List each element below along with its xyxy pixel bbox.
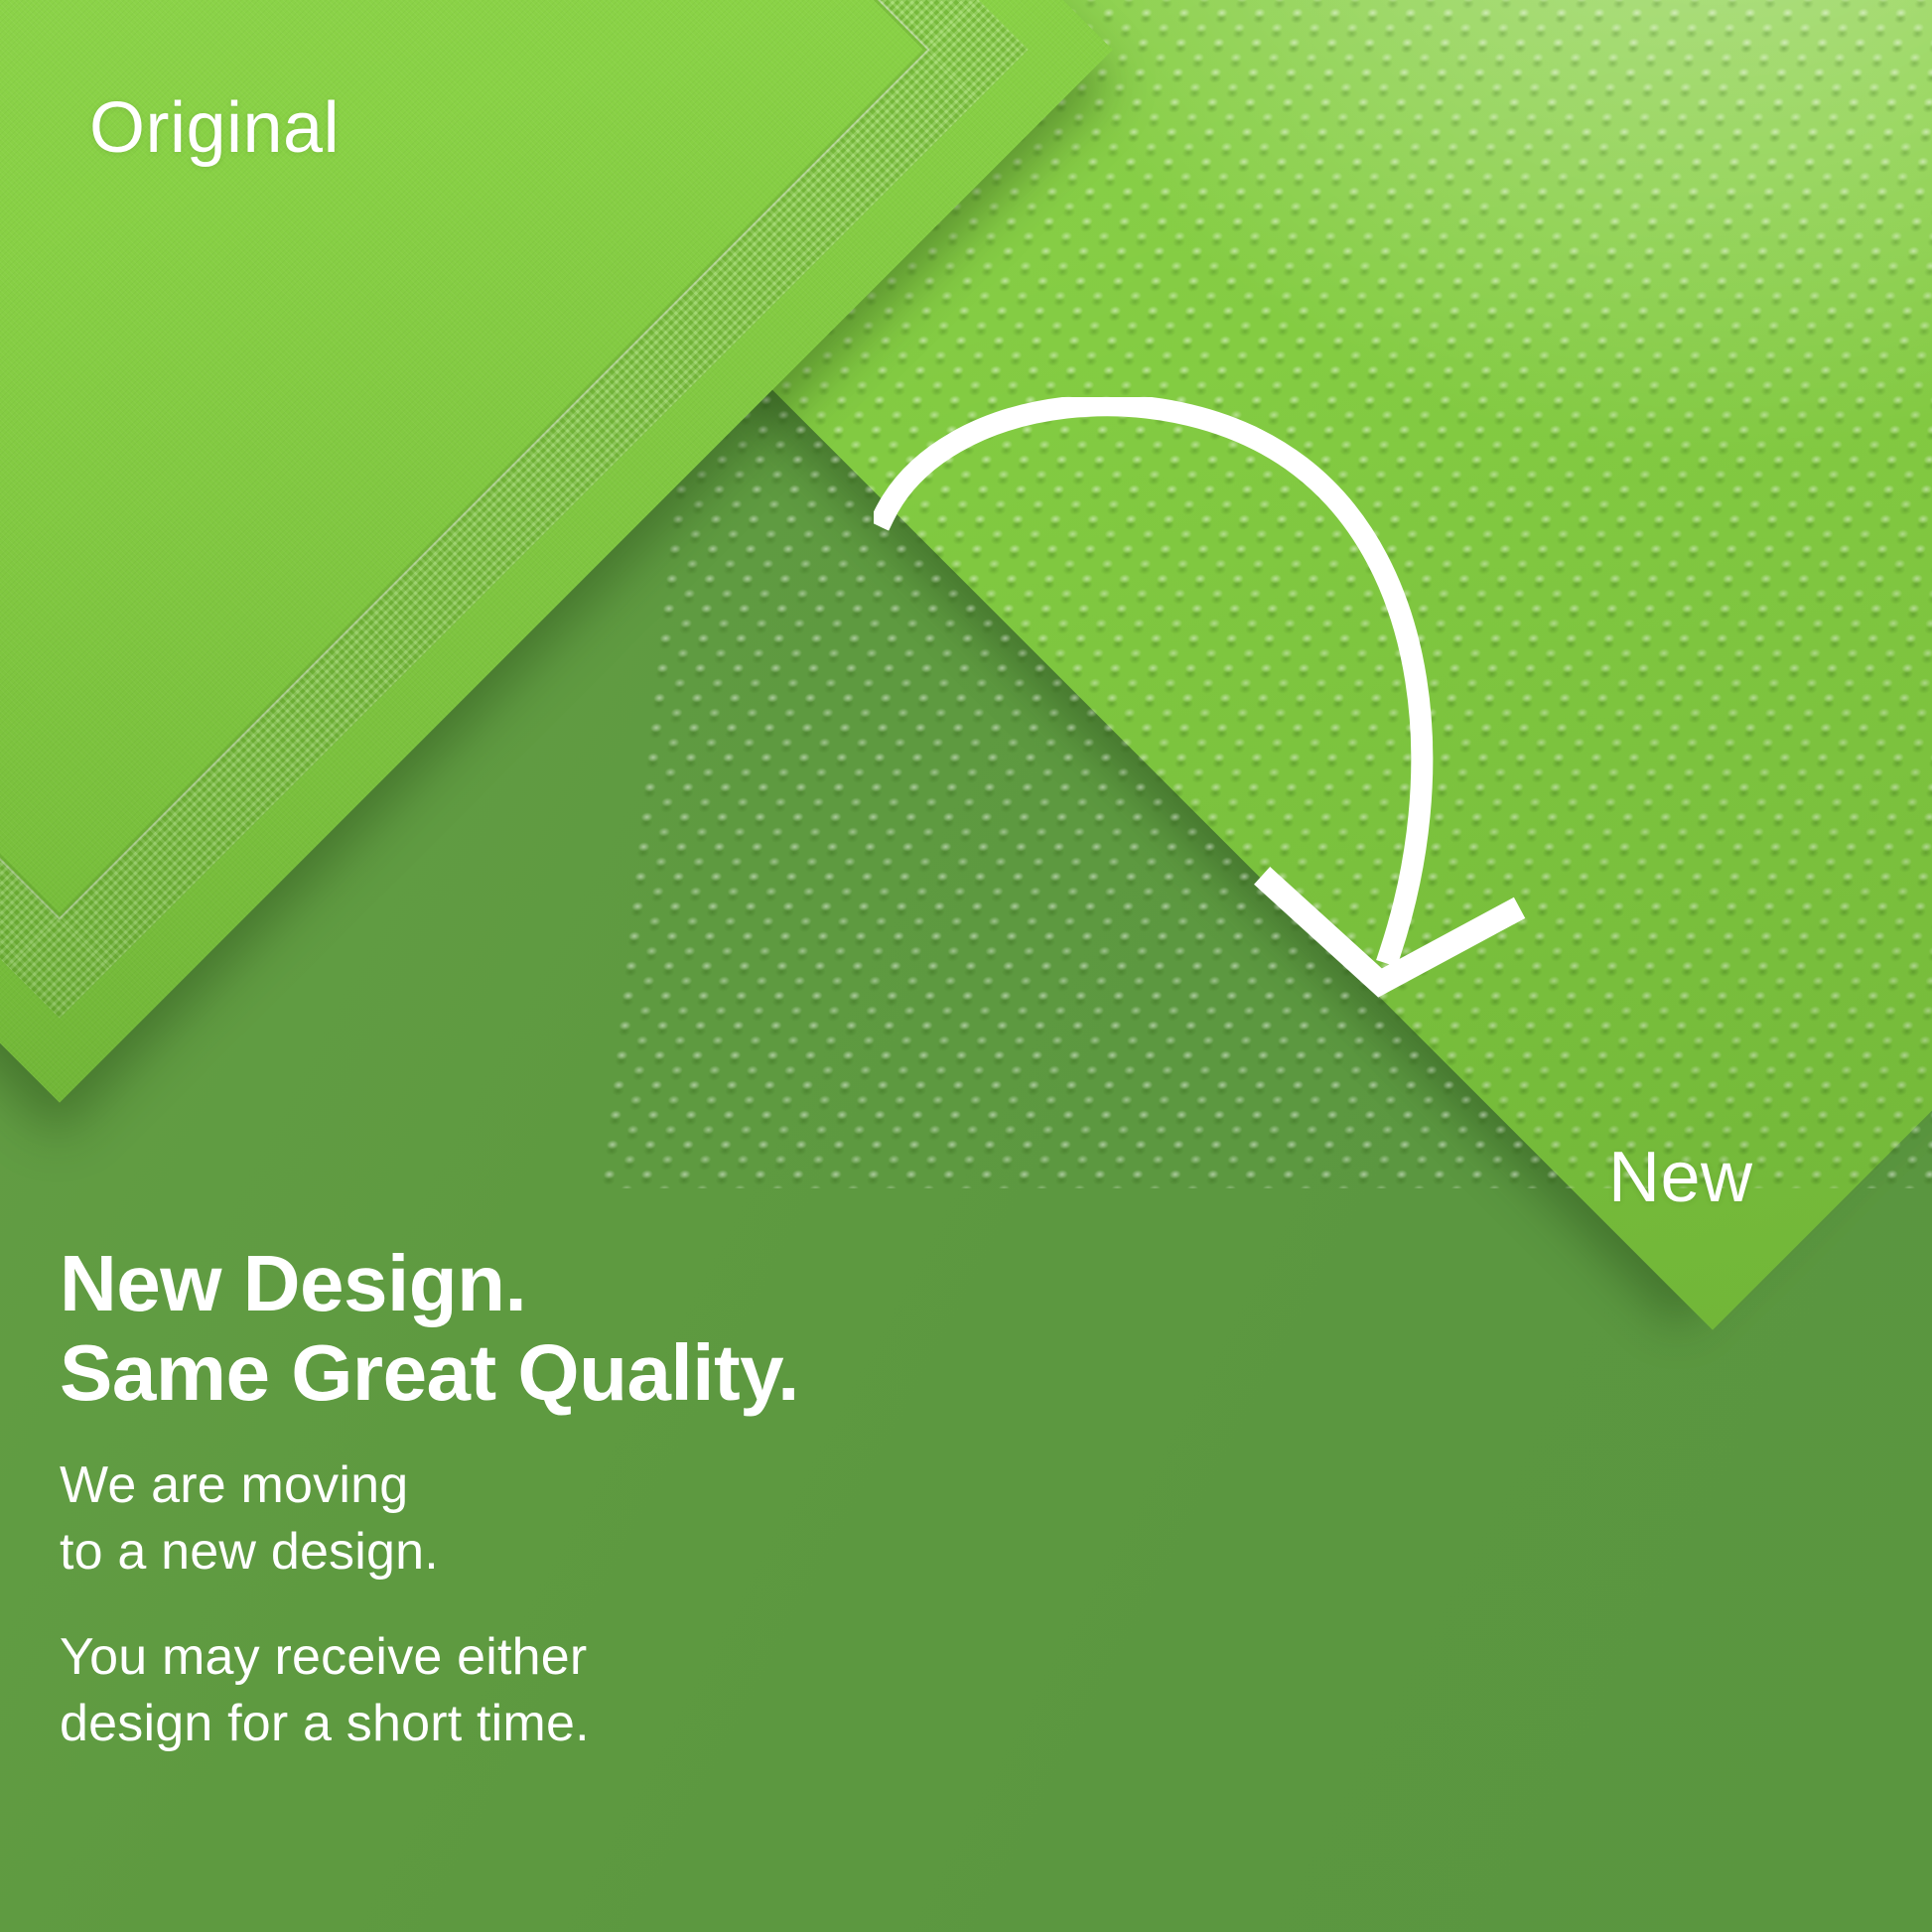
curved-arrow-clockwise-icon [874, 397, 1549, 1013]
paragraph-2: You may receive either design for a shor… [60, 1624, 1112, 1756]
headline-line-1: New Design. [60, 1239, 1112, 1328]
promo-graphic: Original New New Design. Same Great Qual… [0, 0, 1932, 1932]
headline: New Design. Same Great Quality. [60, 1239, 1112, 1417]
headline-line-2: Same Great Quality. [60, 1328, 1112, 1418]
paragraph-1-line-2: to a new design. [60, 1519, 1112, 1586]
copy-block: New Design. Same Great Quality. We are m… [60, 1239, 1112, 1756]
label-new: New [1608, 1137, 1753, 1218]
paragraph-2-line-2: design for a short time. [60, 1691, 1112, 1757]
paragraph-1: We are moving to a new design. [60, 1452, 1112, 1585]
label-original: Original [89, 87, 340, 169]
paragraph-2-line-1: You may receive either [60, 1624, 1112, 1691]
paragraph-1-line-1: We are moving [60, 1452, 1112, 1519]
